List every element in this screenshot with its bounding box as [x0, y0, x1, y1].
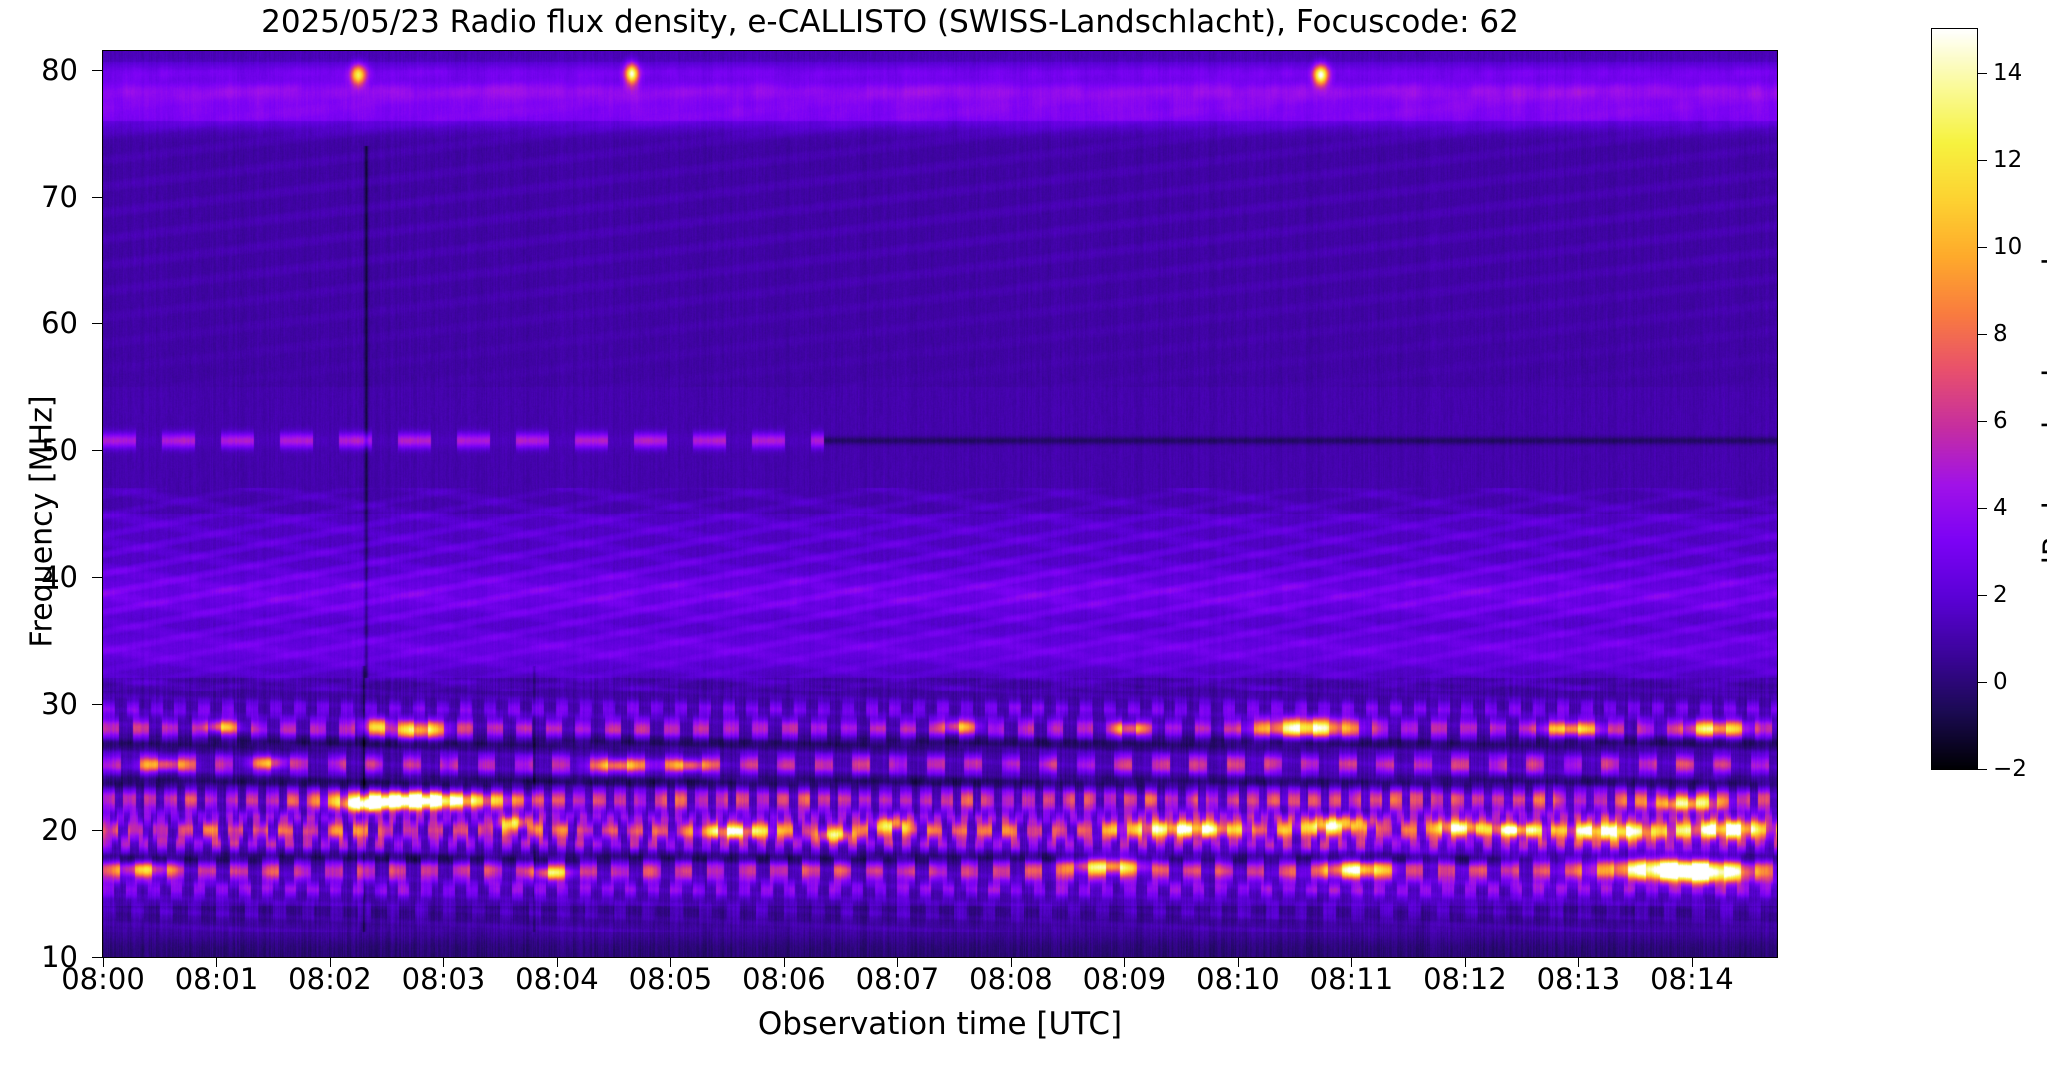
x-tick-label: 08:11 [1310, 962, 1394, 996]
colorbar-tick-mark [1978, 247, 1987, 248]
x-tick-label: 08:07 [856, 962, 940, 996]
page-title: 2025/05/23 Radio flux density, e-CALLIST… [0, 4, 1780, 40]
x-tick-mark [1011, 958, 1012, 967]
x-tick-mark [216, 958, 217, 967]
x-tick-mark [1578, 958, 1579, 967]
y-tick-mark [92, 957, 102, 958]
colorbar-tick-label: 4 [1993, 495, 2008, 521]
colorbar-tick-mark [1978, 160, 1987, 161]
x-tick-label: 08:09 [1083, 962, 1167, 996]
spectrogram-figure: 2025/05/23 Radio flux density, e-CALLIST… [0, 0, 2047, 1067]
x-tick-label: 08:10 [1196, 962, 1280, 996]
colorbar-tick-mark [1978, 769, 1987, 770]
x-tick-mark [330, 958, 331, 967]
x-tick-mark [1351, 958, 1352, 967]
colorbar-tick-label: 2 [1993, 582, 2008, 608]
y-tick-mark [92, 830, 102, 831]
x-tick-mark [897, 958, 898, 967]
x-tick-mark [1692, 958, 1693, 967]
y-tick-mark [92, 577, 102, 578]
colorbar-tick-mark [1978, 73, 1987, 74]
x-tick-label: 08:03 [402, 962, 486, 996]
x-axis-label: Observation time [UTC] [102, 1006, 1778, 1042]
colorbar-tick-label: 12 [1993, 147, 2022, 173]
x-tick-mark [103, 958, 104, 967]
colorbar-label: dB above background [2037, 116, 2047, 716]
colorbar-tick-mark [1978, 421, 1987, 422]
y-tick-mark [92, 70, 102, 71]
colorbar-tick-label: 6 [1993, 408, 2008, 434]
colorbar-tick-label: 0 [1993, 669, 2008, 695]
y-axis-label: Frequency [MHz] [25, 72, 60, 972]
spectrogram-plot-area [102, 50, 1778, 958]
x-tick-label: 08:00 [61, 962, 145, 996]
x-tick-label: 08:13 [1537, 962, 1621, 996]
x-tick-label: 08:06 [742, 962, 826, 996]
colorbar-tick-mark [1978, 508, 1987, 509]
y-tick-mark [92, 704, 102, 705]
colorbar-tick-label: −2 [1993, 756, 2027, 782]
x-tick-label: 08:02 [288, 962, 372, 996]
x-tick-mark [1465, 958, 1466, 967]
colorbar-tick-mark [1978, 682, 1987, 683]
colorbar-tick-label: 14 [1993, 60, 2022, 86]
y-tick-mark [92, 197, 102, 198]
x-tick-label: 08:08 [969, 962, 1053, 996]
colorbar-tick-mark [1978, 595, 1987, 596]
colorbar-tick-label: 8 [1993, 321, 2008, 347]
x-tick-label: 08:14 [1650, 962, 1734, 996]
x-tick-mark [557, 958, 558, 967]
x-tick-mark [1238, 958, 1239, 967]
x-tick-mark [1124, 958, 1125, 967]
y-tick-mark [92, 323, 102, 324]
x-tick-mark [443, 958, 444, 967]
x-tick-label: 08:05 [629, 962, 713, 996]
colorbar-tick-mark [1978, 334, 1987, 335]
x-tick-label: 08:01 [175, 962, 259, 996]
colorbar-tick-label: 10 [1993, 234, 2022, 260]
x-tick-mark [784, 958, 785, 967]
x-tick-label: 08:04 [515, 962, 599, 996]
x-axis-tick-labels: 08:0008:0108:0208:0308:0408:0508:0608:07… [0, 962, 2047, 1008]
spectrogram-canvas [103, 51, 1777, 957]
x-tick-label: 08:12 [1423, 962, 1507, 996]
y-tick-mark [92, 450, 102, 451]
x-tick-mark [670, 958, 671, 967]
colorbar-tick-labels: −202468101214 [1931, 28, 2041, 770]
